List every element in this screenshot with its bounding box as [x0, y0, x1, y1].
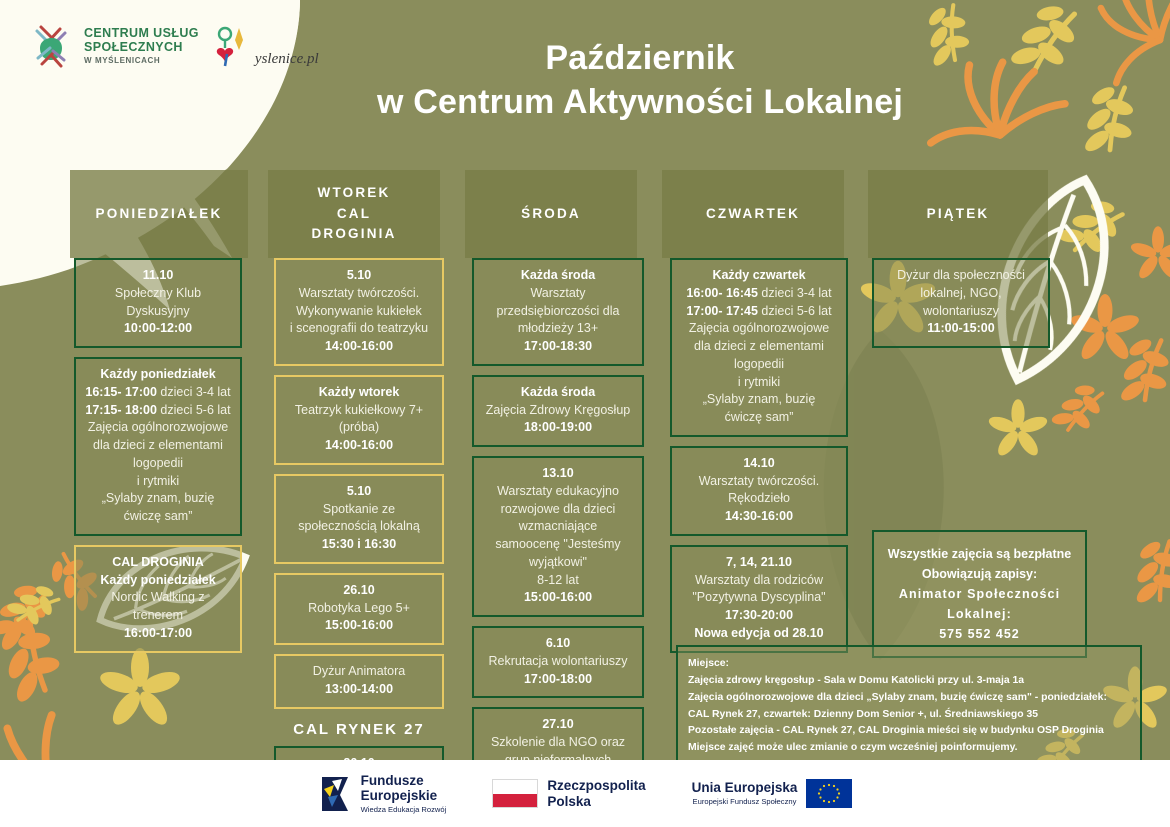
card-line: 5.10 [282, 267, 436, 285]
card-line: 17:30-20:00 [678, 607, 840, 625]
card-line-time: 17:00- 17:45 [686, 304, 758, 318]
eu-flag-icon [806, 779, 852, 808]
card-line-strong: 14.10 [743, 456, 774, 470]
card-line: 16:00-17:00 [82, 625, 234, 643]
card-line-strong: Każdy czwartek [712, 268, 805, 282]
card-line: Społeczny Klub [82, 285, 234, 303]
card-line: Każda środa [480, 384, 636, 402]
card-line: młodzieży 13+ [480, 320, 636, 338]
card-line-strong: Nowa edycja od 28.10 [694, 626, 823, 640]
schedule-card[interactable]: 14.10Warsztaty twórczości.Rękodzieło14:3… [670, 446, 848, 536]
card-line-strong: 14:00-16:00 [325, 339, 393, 353]
card-line: 6.10 [480, 635, 636, 653]
card-line: logopedii [678, 356, 840, 374]
footer-logo-rzeczpospolita-polska: Rzeczpospolita Polska [492, 778, 645, 809]
schedule-card[interactable]: 26.10Robotyka Lego 5+15:00-16:00 [274, 573, 444, 645]
footer-subtitle: Wiedza Edukacja Rozwój [361, 806, 447, 815]
card-line: 15:30 i 16:30 [282, 536, 436, 554]
venue-line: Zajęcia ogólnorozwojowe dla dzieci „Syla… [688, 690, 1130, 707]
footer-title: Unia Europejska [692, 780, 798, 796]
footer-logo-fundusze-europejskie: Fundusze Europejskie Wiedza Edukacja Roz… [318, 773, 447, 815]
card-line: 13.10 [480, 465, 636, 483]
footer-title: Rzeczpospolita [547, 778, 645, 794]
card-line: 14:30-16:00 [678, 508, 840, 526]
card-line: 26.10 [282, 582, 436, 600]
column-subheading: CAL RYNEK 27 [274, 721, 444, 738]
card-line-strong: 11:00-15:00 [927, 321, 994, 335]
card-line: Zajęcia ogólnorozwojowe [82, 419, 234, 437]
card-line: 14.10 [678, 455, 840, 473]
info-phone-number: 575 552 452 [882, 624, 1077, 644]
schedule-card[interactable]: Dyżur Animatora13:00-14:00 [274, 654, 444, 709]
card-line: Warsztaty twórczości. [282, 285, 436, 303]
day-header-wednesday: ŚRODA [465, 170, 637, 258]
info-line-2: Obowiązują zapisy: [882, 564, 1077, 584]
card-line: ćwiczę sam” [82, 508, 234, 526]
column-friday: Dyżur dla społecznościlokalnej, NGO,wolo… [872, 258, 1050, 357]
card-line: Nordic Walking z [82, 589, 234, 607]
card-line: 13:00-14:00 [282, 681, 436, 699]
card-line: 18:00-19:00 [480, 419, 636, 437]
card-line: 8-12 lat [480, 572, 636, 590]
card-line: Rękodzieło [678, 490, 840, 508]
card-line-strong: Każdy poniedziałek [100, 573, 215, 587]
card-line: Każdy poniedziałek [82, 572, 234, 590]
card-line-strong: CAL DROGINIA [112, 555, 203, 569]
card-line: 5.10 [282, 483, 436, 501]
card-line: Warsztaty twórczości. [678, 473, 840, 491]
info-line-1: Wszystkie zajęcia są bezpłatne [882, 544, 1077, 564]
card-line-strong: Każdy poniedziałek [100, 367, 215, 381]
card-line: i scenografii do teatrzyku [282, 320, 436, 338]
poster-root: CENTRUM USŁUG SPOŁECZNYCH W MYŚLENICACH … [0, 0, 1170, 827]
schedule-card[interactable]: Dyżur dla społecznościlokalnej, NGO,wolo… [872, 258, 1050, 348]
card-line: wzmacniające [480, 518, 636, 536]
card-line-strong: 15:30 i 16:30 [322, 537, 396, 551]
day-label: CZWARTEK [706, 204, 800, 225]
schedule-card[interactable]: Każdy czwartek16:00- 16:45 dzieci 3-4 la… [670, 258, 848, 437]
column-monday: 11.10Społeczny KlubDyskusyjny10:00-12:00… [74, 258, 242, 662]
footer-title-2: Europejskie [361, 788, 447, 804]
card-line: Dyżur dla społeczności [880, 267, 1042, 285]
day-label-2: CAL [337, 204, 371, 225]
card-line: Zajęcia ogólnorozwojowe [678, 320, 840, 338]
card-line: 10:00-12:00 [82, 320, 234, 338]
card-line: i rytmiki [82, 473, 234, 491]
schedule-card[interactable]: 6.10Rekrutacja wolontariuszy17:00-18:00 [472, 626, 644, 698]
footer-logo-unia-europejska: Unia Europejska Europejski Fundusz Społe… [692, 779, 853, 808]
column-wednesday: Każda środaWarsztatyprzedsiębiorczości d… [472, 258, 644, 806]
card-line: 14:00-16:00 [282, 437, 436, 455]
page-title: Październik w Centrum Aktywności Lokalne… [0, 36, 1170, 124]
card-line: Nowa edycja od 28.10 [678, 625, 840, 643]
schedule-card[interactable]: Każdy wtorekTeatrzyk kukiełkowy 7+(próba… [274, 375, 444, 465]
venue-line: Pozostałe zajęcia - CAL Rynek 27, CAL Dr… [688, 723, 1130, 740]
card-line-strong: 7, 14, 21.10 [726, 555, 792, 569]
footer-title: Fundusze [361, 773, 447, 789]
card-line-strong: 27.10 [542, 717, 573, 731]
card-line: lokalnej, NGO, [880, 285, 1042, 303]
card-line: Spotkanie ze [282, 501, 436, 519]
poster-header: CENTRUM USŁUG SPOŁECZNYCH W MYŚLENICACH … [0, 0, 1170, 160]
card-line: rozwojowe dla dzieci [480, 501, 636, 519]
card-line: „Sylaby znam, buzię [678, 391, 840, 409]
card-line-strong: 26.10 [343, 583, 374, 597]
card-line-strong: 15:00-16:00 [524, 590, 592, 604]
card-line: 16:15- 17:00 dzieci 3-4 lat [82, 384, 234, 402]
card-line-strong: 13:00-14:00 [325, 682, 393, 696]
card-line-strong: 6.10 [546, 636, 570, 650]
fundusze-europejskie-icon [318, 775, 352, 813]
schedule-card[interactable]: Każdy poniedziałek16:15- 17:00 dzieci 3-… [74, 357, 242, 536]
card-line: Szkolenie dla NGO oraz [480, 734, 636, 752]
card-line: samoocenę "Jesteśmy [480, 536, 636, 554]
card-line: trenerem [82, 607, 234, 625]
card-line: społecznością lokalną [282, 518, 436, 536]
card-line: Warsztaty dla rodziców [678, 572, 840, 590]
card-line: „Sylaby znam, buzię [82, 490, 234, 508]
day-header-monday: PONIEDZIAŁEK [70, 170, 248, 258]
venue-title: Miejsce: [688, 656, 1130, 673]
card-line-strong: 5.10 [347, 268, 371, 282]
schedule-card[interactable]: 5.10Warsztaty twórczości.Wykonywanie kuk… [274, 258, 444, 366]
day-label-3: DROGINIA [311, 224, 396, 245]
card-line-strong: 14:00-16:00 [325, 438, 393, 452]
column-thursday: Każdy czwartek16:00- 16:45 dzieci 3-4 la… [670, 258, 848, 662]
card-line: Robotyka Lego 5+ [282, 600, 436, 618]
card-line: ćwiczę sam” [678, 409, 840, 427]
card-line: Warsztaty edukacyjno [480, 483, 636, 501]
schedule-card[interactable]: 7, 14, 21.10Warsztaty dla rodziców"Pozyt… [670, 545, 848, 653]
day-label: WTOREK [318, 183, 391, 204]
schedule-card[interactable]: 5.10Spotkanie zespołecznością lokalną15:… [274, 474, 444, 564]
card-line: (próba) [282, 419, 436, 437]
card-line: 11:00-15:00 [880, 320, 1042, 338]
day-label: ŚRODA [521, 204, 581, 225]
day-header-friday: PIĄTEK [868, 170, 1048, 258]
card-line: 15:00-16:00 [282, 617, 436, 635]
card-line-time: 17:15- 18:00 [85, 403, 157, 417]
day-label: PIĄTEK [927, 204, 990, 225]
card-line-strong: Każda środa [521, 268, 595, 282]
venue-line: Zajęcia zdrowy kręgosłup - Sala w Domu K… [688, 673, 1130, 690]
day-header-row: PONIEDZIAŁEK WTOREK CAL DROGINIA ŚRODA C… [60, 170, 1110, 258]
card-line-strong: 17:30-20:00 [725, 608, 793, 622]
card-line: 27.10 [480, 716, 636, 734]
card-line-strong: 17:00-18:00 [524, 672, 592, 686]
title-line-1: Październik [110, 36, 1170, 80]
card-line-strong: 11.10 [143, 268, 174, 282]
card-line: 17:00-18:00 [480, 671, 636, 689]
footer-logo-bar: Fundusze Europejskie Wiedza Edukacja Roz… [0, 760, 1170, 827]
card-line: 11.10 [82, 267, 234, 285]
info-line-3: Animator Społeczności Lokalnej: [882, 584, 1077, 624]
card-line: 17:00-18:30 [480, 338, 636, 356]
card-line: Dyskusyjny [82, 303, 234, 321]
card-line: 17:00- 17:45 dzieci 5-6 lat [678, 303, 840, 321]
schedule-card[interactable]: Każda środaWarsztatyprzedsiębiorczości d… [472, 258, 644, 366]
card-line: logopedii [82, 455, 234, 473]
card-line: 16:00- 16:45 dzieci 3-4 lat [678, 285, 840, 303]
card-line: Każda środa [480, 267, 636, 285]
schedule-card[interactable]: 11.10Społeczny KlubDyskusyjny10:00-12:00 [74, 258, 242, 348]
footer-subtitle: Europejski Fundusz Społeczny [692, 798, 798, 807]
card-line: Dyżur Animatora [282, 663, 436, 681]
card-line: przedsiębiorczości dla [480, 303, 636, 321]
card-line: dla dzieci z elementami [82, 437, 234, 455]
card-line: 14:00-16:00 [282, 338, 436, 356]
card-line: Wykonywanie kukiełek [282, 303, 436, 321]
card-line: 15:00-16:00 [480, 589, 636, 607]
poland-flag-icon [492, 779, 538, 808]
card-line-strong: 17:00-18:30 [524, 339, 592, 353]
card-line-time: 16:15- 17:00 [85, 385, 157, 399]
venue-line: Miejsce zajęć może ulec zmianie o czym w… [688, 740, 1130, 757]
column-tuesday: 5.10Warsztaty twórczości.Wykonywanie kuk… [274, 258, 444, 827]
card-line: Rekrutacja wolontariuszy [480, 653, 636, 671]
card-line: wolontariuszy [880, 303, 1042, 321]
card-line: CAL DROGINIA [82, 554, 234, 572]
card-line: Każdy wtorek [282, 384, 436, 402]
schedule-card[interactable]: CAL DROGINIAKażdy poniedziałekNordic Wal… [74, 545, 242, 653]
venue-note-box: Miejsce: Zajęcia zdrowy kręgosłup - Sala… [676, 645, 1142, 768]
card-line-strong: 13.10 [542, 466, 573, 480]
card-line-time: 16:00- 16:45 [686, 286, 758, 300]
title-line-2: w Centrum Aktywności Lokalnej [110, 80, 1170, 124]
card-line: Każdy czwartek [678, 267, 840, 285]
card-line: 7, 14, 21.10 [678, 554, 840, 572]
card-line: "Pozytywna Dyscyplina" [678, 589, 840, 607]
footer-title-2: Polska [547, 794, 645, 810]
day-label: PONIEDZIAŁEK [96, 204, 223, 225]
schedule-card[interactable]: Każda środaZajęcia Zdrowy Kręgosłup18:00… [472, 375, 644, 447]
card-line: 17:15- 18:00 dzieci 5-6 lat [82, 402, 234, 420]
card-line-strong: 15:00-16:00 [325, 618, 393, 632]
card-line: Każdy poniedziałek [82, 366, 234, 384]
card-line-strong: 16:00-17:00 [124, 626, 192, 640]
signup-info-box: Wszystkie zajęcia są bezpłatne Obowiązuj… [872, 530, 1087, 658]
card-line-strong: 18:00-19:00 [524, 420, 592, 434]
day-header-tuesday: WTOREK CAL DROGINIA [268, 170, 440, 258]
day-header-thursday: CZWARTEK [662, 170, 844, 258]
card-line-strong: Każdy wtorek [319, 385, 400, 399]
schedule-card[interactable]: 13.10Warsztaty edukacyjnorozwojowe dla d… [472, 456, 644, 617]
venue-line: CAL Rynek 27, czwartek: Dzienny Dom Seni… [688, 707, 1130, 724]
card-line-strong: 14:30-16:00 [725, 509, 793, 523]
card-line-strong: 5.10 [347, 484, 371, 498]
card-line: Warsztaty [480, 285, 636, 303]
card-line: wyjątkowi" [480, 554, 636, 572]
card-line-strong: 10:00-12:00 [124, 321, 192, 335]
card-line: i rytmiki [678, 374, 840, 392]
card-line-strong: Każda środa [521, 385, 595, 399]
card-line: Zajęcia Zdrowy Kręgosłup [480, 402, 636, 420]
card-line: Teatrzyk kukiełkowy 7+ [282, 402, 436, 420]
card-line: dla dzieci z elementami [678, 338, 840, 356]
